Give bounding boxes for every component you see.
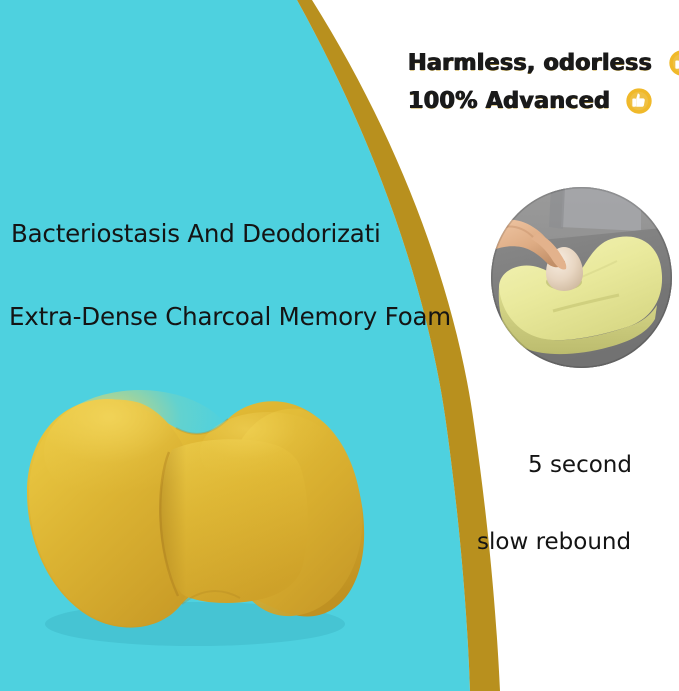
thumbs-up-icon <box>625 87 653 115</box>
thumbs-up-icon <box>668 49 679 77</box>
caption-5-second: 5 second <box>528 452 632 478</box>
feature-line-charcoal-foam: Extra-Dense Charcoal Memory Foam <box>9 302 451 331</box>
egg-press-demo-photo <box>491 187 672 368</box>
feature-line-bacteriostasis: Bacteriostasis And Deodorizati <box>11 219 381 248</box>
caption-slow-rebound: slow rebound <box>477 529 631 555</box>
headline-line-2: 100% Advanced <box>408 88 610 114</box>
product-pillow-illustration <box>27 390 364 646</box>
headline-line-1: Harmless, odorless <box>408 50 652 76</box>
headline-row-2: 100% Advanced <box>408 82 676 120</box>
headline-block: Harmless, odorless 100% Advanced <box>408 44 676 120</box>
product-marketing-image: Harmless, odorless 100% Advanced Bacteri… <box>0 0 679 691</box>
egg-press-photo-content <box>491 187 672 368</box>
headline-row-1: Harmless, odorless <box>408 44 676 82</box>
